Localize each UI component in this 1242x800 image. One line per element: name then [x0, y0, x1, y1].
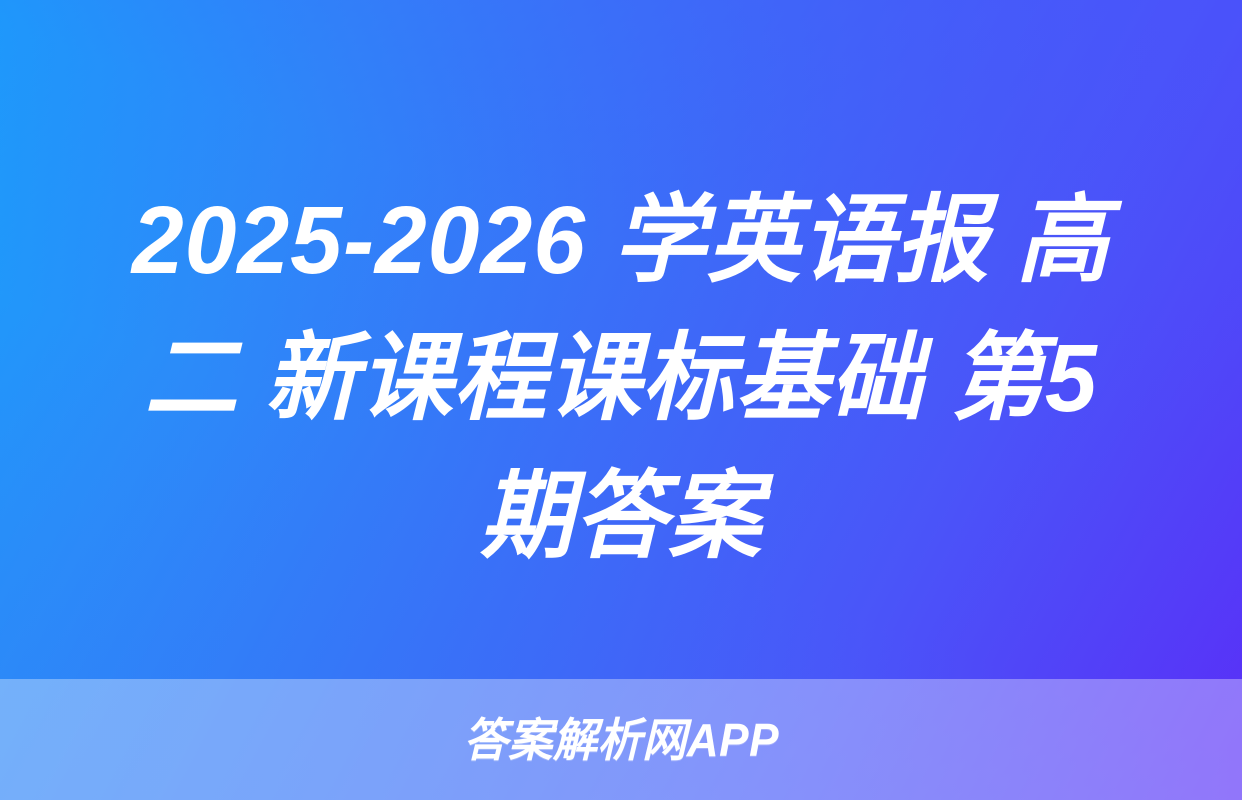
page-title: 2025-2026 学英语报 高 二 新课程课标基础 第5 期答案 — [19, 172, 1224, 586]
title-line-2: 二 新课程课标基础 第5 — [73, 310, 1169, 448]
title-card: 2025-2026 学英语报 高 二 新课程课标基础 第5 期答案 答案解析网A… — [0, 0, 1242, 800]
app-watermark-label: 答案解析网APP — [463, 717, 778, 763]
title-line-3: 期答案 — [73, 448, 1169, 586]
title-line-1: 2025-2026 学英语报 高 — [73, 172, 1169, 310]
watermark-band: 答案解析网APP — [0, 679, 1242, 800]
